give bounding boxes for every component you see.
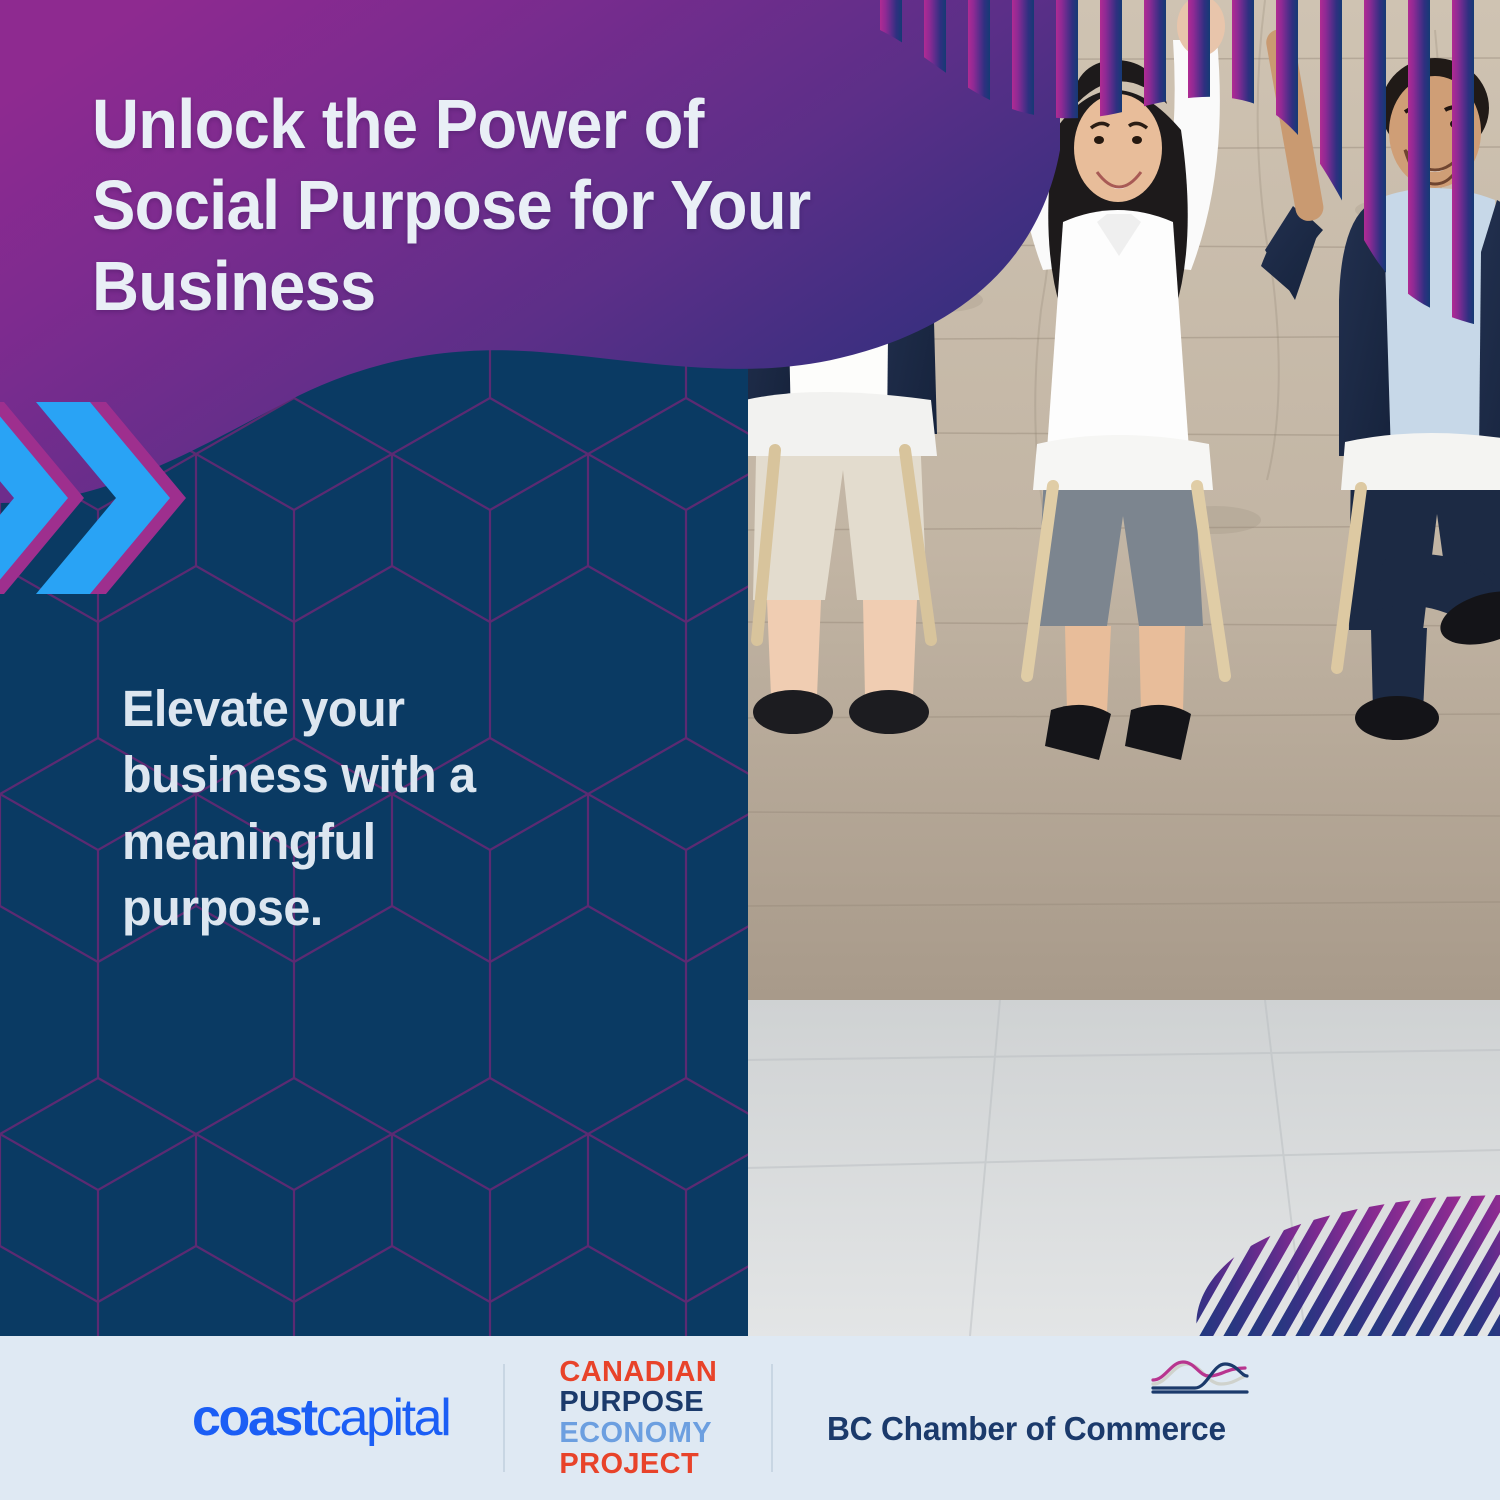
headline: Unlock the Power of Social Purpose for Y… [92, 84, 836, 328]
photo-illustration [745, 0, 1500, 1336]
footer-logo-bar: coastcapital CANADIAN PURPOSE ECONOMY PR… [0, 1336, 1500, 1500]
cpep-line-economy: ECONOMY [559, 1418, 717, 1449]
coast-capital-bold: coast [192, 1389, 316, 1447]
hero-photo [745, 0, 1500, 1336]
logo-bc-chamber-of-commerce: BC Chamber of Commerce [827, 1388, 1243, 1448]
logo-canadian-purpose-economy-project: CANADIAN PURPOSE ECONOMY PROJECT [559, 1357, 717, 1480]
bc-chamber-name: BC Chamber of Commerce [827, 1410, 1226, 1448]
subheadline: Elevate your business with a meaningful … [122, 676, 569, 941]
logo-divider-2 [771, 1364, 773, 1472]
logo-divider-1 [503, 1364, 505, 1472]
cpep-line-purpose: PURPOSE [559, 1387, 717, 1418]
mountain-peaks-icon [1149, 1354, 1249, 1398]
logo-coast-capital: coastcapital [192, 1392, 449, 1444]
coast-capital-light: capital [316, 1389, 450, 1447]
cpep-line-canadian: CANADIAN [559, 1357, 717, 1388]
promotional-poster: Unlock the Power of Social Purpose for Y… [0, 0, 1500, 1500]
cpep-line-project: PROJECT [559, 1449, 717, 1480]
